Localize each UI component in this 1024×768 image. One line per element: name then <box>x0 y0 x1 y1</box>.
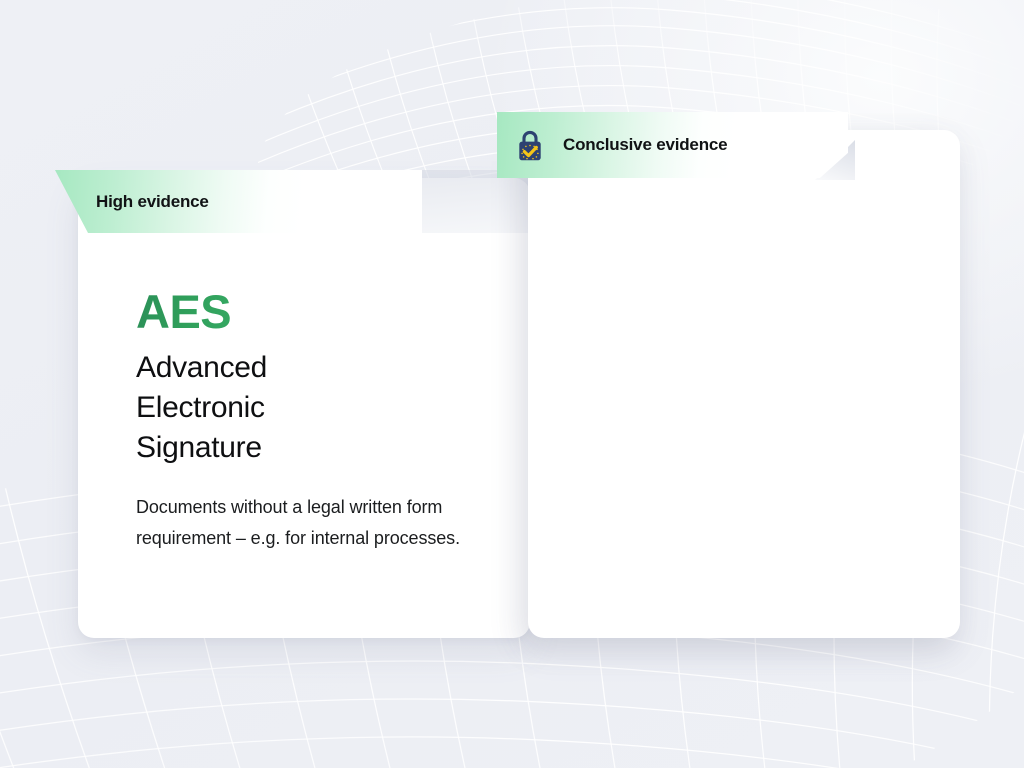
aes-card-content: AES Advanced Electronic Signature Docume… <box>136 288 496 555</box>
aes-full-name-line: Signature <box>136 428 496 468</box>
qes-evidence-badge: Conclusive evidence <box>497 112 848 178</box>
aes-evidence-badge: High evidence <box>55 170 422 233</box>
qes-badge-label: Conclusive evidence <box>563 135 727 155</box>
qes-card <box>528 130 960 638</box>
eu-qualified-lock-icon <box>515 128 545 162</box>
aes-badge-label: High evidence <box>96 192 209 212</box>
aes-abbreviation: AES <box>136 288 231 337</box>
aes-full-name-line: Advanced <box>136 348 496 388</box>
aes-description: Documents without a legal written form r… <box>136 492 488 556</box>
aes-full-name-line: Electronic <box>136 388 496 428</box>
comparison-graphic: High evidence AES Advanced Electronic Si… <box>0 0 1024 768</box>
aes-full-name: Advanced Electronic Signature <box>136 348 496 468</box>
